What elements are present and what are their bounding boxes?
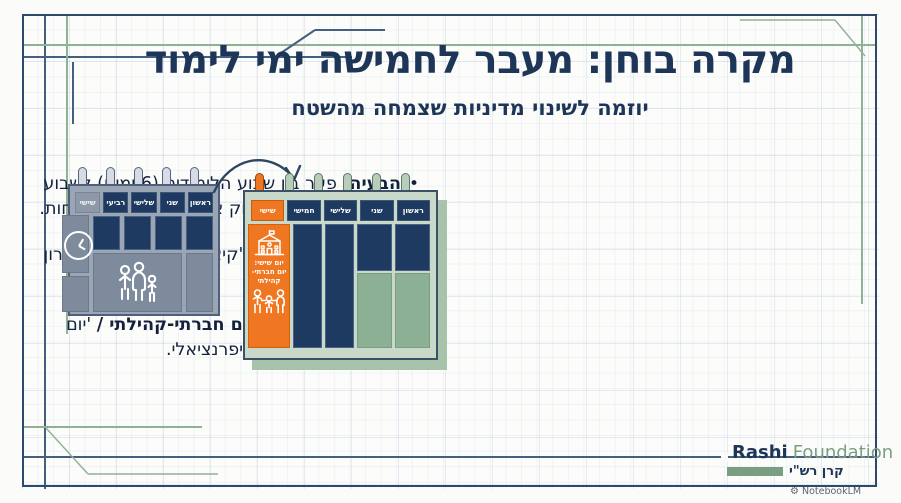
day-header-thursday: חמישי — [287, 200, 320, 221]
title-block: מקרה בוחן: מעבר לחמישה ימי לימוד יוזמה ל… — [75, 40, 865, 120]
logo-wordmark: Rashi Foundation — [727, 442, 877, 463]
day-header-tuesday: שלישי — [131, 192, 156, 213]
logo-hebrew: קרן רש"י — [789, 464, 844, 479]
day-header-sunday: ראשון — [397, 200, 430, 221]
calendar-proposed-grid: יום שישי: יום חברתי- קהילתי — [251, 224, 430, 350]
logo-name: Rashi — [732, 442, 788, 463]
logo-hebrew-row: קרן רש"י — [727, 464, 877, 479]
calendar-current-body: ראשון שני שלישי רביעי שישי — [68, 184, 220, 316]
school-day-cell-sunday — [395, 224, 430, 271]
day-header-tuesday: שלישי — [324, 200, 357, 221]
rashi-foundation-logo: Rashi Foundation קרן רש"י — [727, 442, 877, 479]
logo-green-bar — [727, 467, 783, 476]
friday-label-line3: קהילתי — [252, 277, 287, 286]
family-time-cell — [93, 253, 182, 312]
notebooklm-glyph-icon: ⚙ — [790, 486, 799, 497]
school-day-cell-thursday — [293, 224, 322, 348]
friday-column-label: יום שישי: יום חברתי- קהילתי — [252, 259, 287, 285]
school-building-icon — [253, 229, 286, 256]
school-day-cell-monday — [357, 224, 392, 271]
schedule-cell — [186, 216, 213, 250]
family-icon — [92, 254, 181, 313]
day-header-monday: שני — [160, 192, 185, 213]
friday-label-line2: יום חברתי- — [252, 268, 287, 277]
calendar-current-week: ראשון שני שלישי רביעי שישי — [68, 184, 220, 316]
friday-cell-lower — [62, 276, 89, 312]
calendar-current-grid — [75, 216, 213, 312]
calendar-current-header-row: ראשון שני שלישי רביעי שישי — [75, 192, 213, 213]
day-header-friday: שישי — [251, 200, 284, 221]
clock-icon — [64, 231, 93, 260]
schedule-cell — [124, 216, 151, 250]
friday-label-line1: יום שישי: — [252, 259, 287, 268]
schedule-cell — [155, 216, 182, 250]
day-header-friday: שישי — [75, 192, 100, 213]
schedule-cell-gray — [186, 253, 213, 312]
page-title: מקרה בוחן: מעבר לחמישה ימי לימוד — [75, 40, 865, 82]
community-cell-sunday — [395, 273, 430, 348]
calendar-proposed-week: ראשון שני שלישי חמישי שישי — [243, 190, 438, 360]
day-header-wednesday: רביעי — [103, 192, 128, 213]
calendar-proposed-body: ראשון שני שלישי חמישי שישי — [243, 190, 438, 360]
watermark-text: NotebookLM — [802, 486, 861, 497]
family-icon — [250, 288, 288, 316]
community-cell-monday — [357, 273, 392, 348]
notebooklm-watermark: ⚙ NotebookLM — [790, 486, 861, 497]
day-header-monday: שני — [360, 200, 393, 221]
calendar-proposed-header-row: ראשון שני שלישי חמישי שישי — [251, 200, 430, 221]
friday-cell-clock — [62, 215, 89, 273]
friday-community-column: יום שישי: יום חברתי- קהילתי — [248, 224, 290, 348]
schedule-cell — [93, 216, 120, 250]
logo-word: Foundation — [793, 442, 893, 463]
school-day-cell-tuesday — [325, 224, 354, 348]
slide-canvas: מקרה בוחן: מעבר לחמישה ימי לימוד יוזמה ל… — [0, 0, 901, 503]
page-subtitle: יוזמה לשינוי מדיניות שצמחה מהשטח — [75, 96, 865, 120]
